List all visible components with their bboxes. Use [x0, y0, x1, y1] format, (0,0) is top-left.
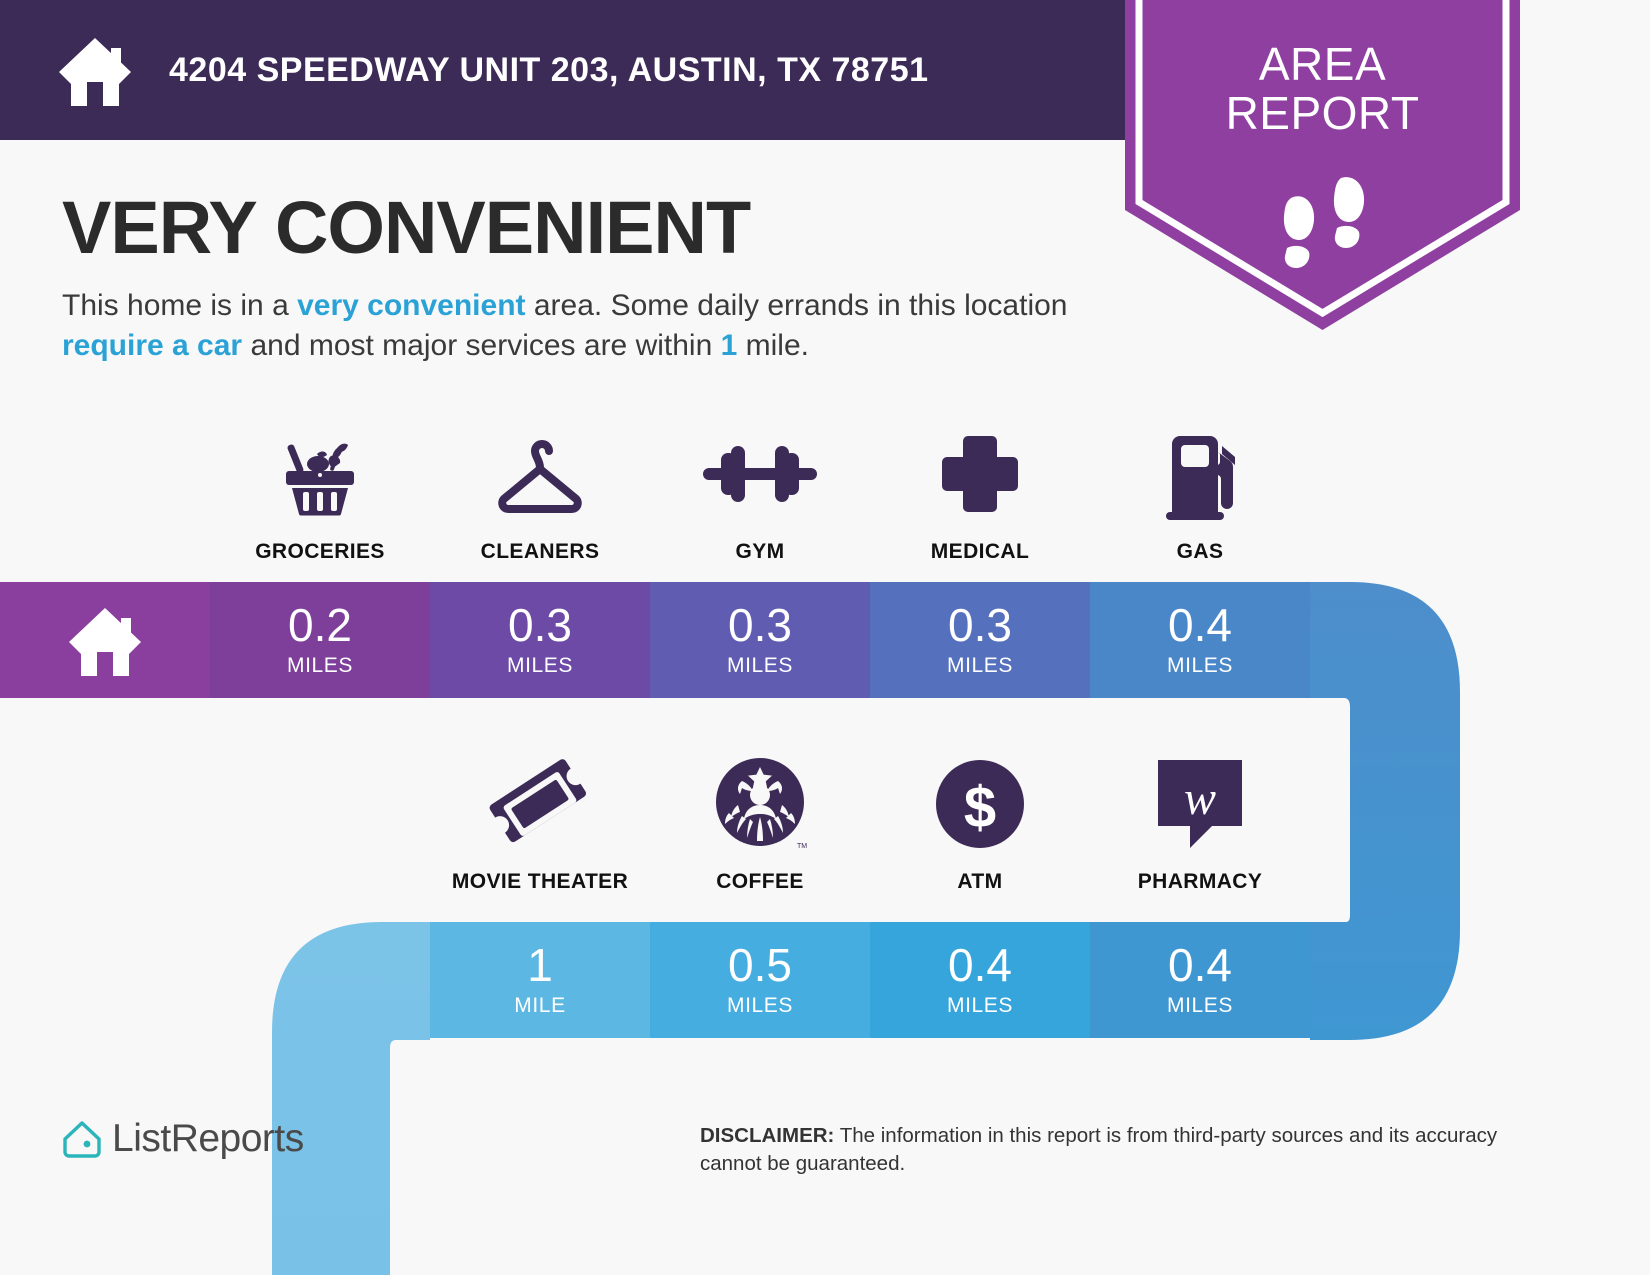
amenity-label: MEDICAL — [931, 540, 1029, 564]
distance-unit: MILES — [1167, 654, 1233, 678]
distance-value: 0.4 — [948, 942, 1012, 988]
disclaimer-label: DISCLAIMER: — [700, 1124, 834, 1147]
distance-cell-coffee: 0.5 MILES — [650, 922, 870, 1038]
badge-title: AREA REPORT — [1125, 40, 1520, 138]
description-text: This home is in a very convenient area. … — [62, 286, 1122, 366]
amenity-gym: GYM — [650, 420, 870, 564]
distance-cell-cleaners: 0.3 MILES — [430, 582, 650, 698]
footprints-icon — [1273, 170, 1383, 280]
badge-line-2: REPORT — [1125, 89, 1520, 138]
header-bar: 4204 SPEEDWAY UNIT 203, AUSTIN, TX 78751 — [0, 0, 1140, 140]
distance-cell-pharmacy: 0.4 MILES — [1090, 922, 1310, 1038]
svg-text:TM: TM — [797, 843, 807, 850]
home-icon — [63, 604, 147, 676]
distance-unit: MILES — [1167, 994, 1233, 1018]
desc-highlight-1: very convenient — [297, 289, 525, 322]
amenity-label: CLEANERS — [481, 540, 600, 564]
amenity-cleaners: CLEANERS — [430, 420, 650, 564]
distance-value: 0.2 — [288, 602, 352, 648]
svg-text:w: w — [1184, 772, 1216, 825]
amenity-label: PHARMACY — [1138, 870, 1263, 894]
distance-unit: MILES — [727, 994, 793, 1018]
medical-cross-icon — [930, 420, 1030, 528]
amenity-groceries: GROCERIES — [210, 420, 430, 564]
amenity-gas: GAS — [1090, 420, 1310, 564]
distance-unit: MILES — [947, 654, 1013, 678]
listreports-house-icon — [62, 1119, 102, 1159]
amenity-coffee: TM COFFEE — [650, 750, 870, 894]
distance-value: 1 — [527, 942, 553, 988]
distance-bar-row-2: 1 MILE 0.5 MILES 0.4 MILES 0.4 MILES — [430, 922, 1310, 1038]
distance-cell-medical: 0.3 MILES — [870, 582, 1090, 698]
desc-part-4: mile. — [737, 329, 809, 362]
distance-unit: MILES — [507, 654, 573, 678]
distance-cell-movie-theater: 1 MILE — [430, 922, 650, 1038]
dumbbell-icon — [695, 420, 825, 528]
disclaimer: DISCLAIMER: The information in this repo… — [700, 1122, 1510, 1179]
distance-value: 0.3 — [728, 602, 792, 648]
page-title: VERY CONVENIENT — [62, 185, 750, 270]
desc-highlight-3: 1 — [721, 329, 738, 362]
desc-part-3: and most major services are within — [242, 329, 721, 362]
home-marker-cell — [0, 582, 210, 698]
distance-cell-gym: 0.3 MILES — [650, 582, 870, 698]
logo-text: ListReports — [112, 1117, 304, 1161]
distance-cell-gas: 0.4 MILES — [1090, 582, 1310, 698]
svg-text:$: $ — [964, 775, 996, 840]
distance-unit: MILES — [947, 994, 1013, 1018]
property-address: 4204 SPEEDWAY UNIT 203, AUSTIN, TX 78751 — [169, 51, 929, 90]
gas-pump-icon — [1148, 420, 1253, 528]
walgreens-w-icon: w — [1152, 750, 1248, 858]
distance-unit: MILES — [727, 654, 793, 678]
dollar-circle-icon: $ — [931, 750, 1029, 858]
area-report-badge: AREA REPORT — [1125, 0, 1520, 330]
amenity-movie-theater: MOVIE THEATER — [430, 750, 650, 894]
amenity-icons-row-1: GROCERIES CLEANERS GYM — [210, 420, 1310, 564]
amenity-label: ATM — [957, 870, 1002, 894]
distance-unit: MILES — [287, 654, 353, 678]
distance-unit: MILE — [514, 994, 565, 1018]
amenity-icons-row-2: MOVIE THEATER — [430, 750, 1310, 894]
home-icon — [55, 34, 135, 106]
amenity-atm: $ ATM — [870, 750, 1090, 894]
distance-cell-atm: 0.4 MILES — [870, 922, 1090, 1038]
badge-line-1: AREA — [1125, 40, 1520, 89]
distance-bar-row-1: 0.2 MILES 0.3 MILES 0.3 MILES 0.3 MILES … — [210, 582, 1310, 698]
desc-highlight-2: require a car — [62, 329, 242, 362]
desc-part-2: area. Some daily errands in this locatio… — [526, 289, 1068, 322]
amenity-pharmacy: w PHARMACY — [1090, 750, 1310, 894]
clothes-hanger-icon — [485, 420, 595, 528]
amenity-label: GAS — [1177, 540, 1224, 564]
distance-value: 0.3 — [508, 602, 572, 648]
distance-cell-groceries: 0.2 MILES — [210, 582, 430, 698]
movie-ticket-icon — [485, 750, 595, 858]
listreports-logo: ListReports — [62, 1117, 304, 1161]
starbucks-icon: TM — [709, 750, 811, 858]
distance-value: 0.3 — [948, 602, 1012, 648]
distance-value: 0.5 — [728, 942, 792, 988]
amenity-label: MOVIE THEATER — [452, 870, 628, 894]
distance-value: 0.4 — [1168, 942, 1232, 988]
distance-value: 0.4 — [1168, 602, 1232, 648]
desc-part-1: This home is in a — [62, 289, 297, 322]
amenity-label: COFFEE — [716, 870, 804, 894]
grocery-basket-icon — [270, 420, 370, 528]
amenity-medical: MEDICAL — [870, 420, 1090, 564]
amenity-label: GROCERIES — [255, 540, 385, 564]
amenity-label: GYM — [735, 540, 784, 564]
